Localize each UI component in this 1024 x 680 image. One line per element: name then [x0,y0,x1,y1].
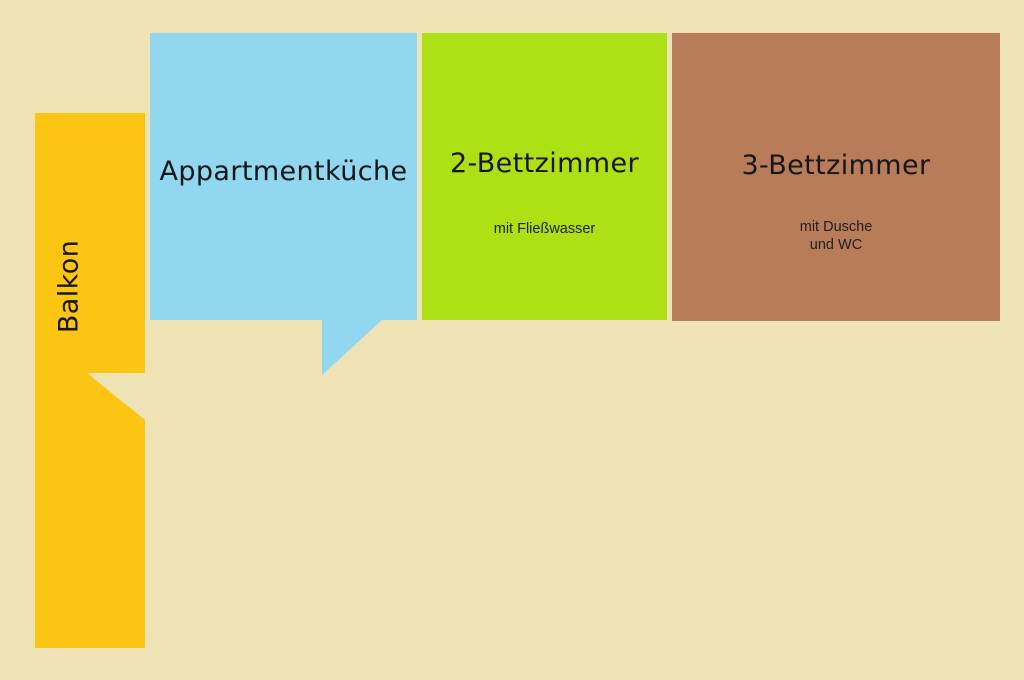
floor-plan-canvas: Balkon Appartmentküche 2-Bettzimmer mit … [0,0,1024,680]
room-shape-three-bed[interactable] [672,33,1000,321]
floor-plan-shapes [0,0,1024,680]
room-shape-two-bed[interactable] [422,33,667,320]
